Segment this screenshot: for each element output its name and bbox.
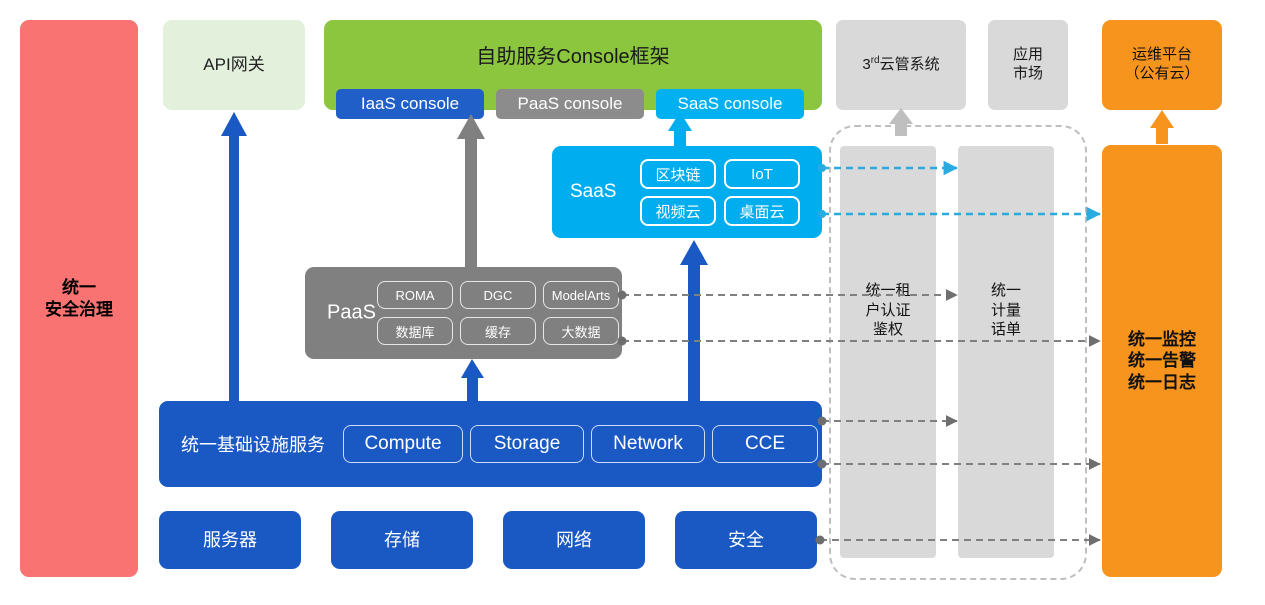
infra-item-network[interactable]: Network (591, 425, 705, 463)
app-market-box: 应用 市场 (988, 20, 1068, 110)
unified-infrastructure-panel: 统一基础设施服务 Compute Storage Network CCE (159, 401, 822, 487)
ops-monitoring-label: 统一监控 统一告警 统一日志 (1128, 329, 1196, 393)
console-framework-title: 自助服务Console框架 (324, 40, 822, 69)
saas-panel-label: SaaS (570, 181, 616, 203)
infra-item-cce-label: CCE (745, 433, 785, 455)
saas-console-label: SaaS console (678, 94, 783, 114)
security-governance-label: 统一 安全治理 (45, 277, 113, 320)
resource-box-network-label: 网络 (556, 529, 592, 552)
ops-platform-box: 运维平台 （公有云） (1102, 20, 1222, 110)
third-party-cloud-mgmt-label: 3rd云管系统 (862, 55, 939, 75)
third-party-rest: 云管系统 (880, 56, 940, 73)
arrow-infra-to-saas (680, 240, 708, 401)
paas-item-database[interactable]: 数据库 (377, 317, 453, 345)
paas-item-roma-label: ROMA (396, 288, 435, 303)
console-framework-panel: 自助服务Console框架 IaaS console PaaS console … (324, 20, 822, 110)
infra-item-network-label: Network (613, 433, 683, 455)
metering-billing-column (958, 146, 1054, 558)
saas-item-desktop-cloud[interactable]: 桌面云 (724, 196, 800, 226)
paas-item-cache-label: 缓存 (485, 322, 511, 341)
ops-monitoring-panel: 统一监控 统一告警 统一日志 (1102, 145, 1222, 577)
saas-console-chip[interactable]: SaaS console (656, 89, 804, 119)
resource-box-server[interactable]: 服务器 (159, 511, 301, 569)
paas-item-bigdata[interactable]: 大数据 (543, 317, 619, 345)
third-party-prefix: 3 (862, 56, 870, 73)
security-governance-panel: 统一 安全治理 (20, 20, 138, 577)
arrow-paas-to-console (457, 114, 485, 267)
paas-item-bigdata-label: 大数据 (561, 322, 600, 341)
paas-item-modelarts-label: ModelArts (552, 288, 611, 303)
iaas-console-chip[interactable]: IaaS console (336, 89, 484, 119)
api-gateway-box: API网关 (163, 20, 305, 110)
paas-item-modelarts[interactable]: ModelArts (543, 281, 619, 309)
saas-item-blockchain[interactable]: 区块链 (640, 159, 716, 189)
api-gateway-label: API网关 (203, 54, 264, 75)
third-party-superscript: rd (871, 55, 880, 66)
resource-box-security[interactable]: 安全 (675, 511, 817, 569)
infra-item-compute-label: Compute (364, 433, 441, 455)
infra-item-cce[interactable]: CCE (712, 425, 818, 463)
tenant-auth-column (840, 146, 936, 558)
resource-box-storage[interactable]: 存储 (331, 511, 473, 569)
saas-item-video-cloud[interactable]: 视频云 (640, 196, 716, 226)
third-party-cloud-mgmt-box: 3rd云管系统 (836, 20, 966, 110)
saas-item-iot-label: IoT (751, 166, 773, 183)
paas-item-dgc-label: DGC (484, 288, 513, 303)
paas-item-dgc[interactable]: DGC (460, 281, 536, 309)
resource-box-security-label: 安全 (728, 529, 764, 552)
saas-item-video-cloud-label: 视频云 (655, 201, 700, 222)
arrow-up-to-ops-platform (1150, 110, 1174, 144)
iaas-console-label: IaaS console (361, 94, 459, 114)
architecture-diagram: 统一 安全治理 API网关 自助服务Console框架 IaaS console… (0, 0, 1265, 605)
saas-item-desktop-cloud-label: 桌面云 (739, 201, 784, 222)
unified-infrastructure-label: 统一基础设施服务 (181, 431, 325, 457)
saas-panel: SaaS 区块链 IoT 视频云 桌面云 (552, 146, 822, 238)
arrow-infra-to-api-gateway (221, 112, 247, 401)
app-market-label: 应用 市场 (1013, 46, 1043, 84)
paas-item-database-label: 数据库 (395, 322, 434, 341)
paas-console-chip[interactable]: PaaS console (496, 89, 644, 119)
paas-item-roma[interactable]: ROMA (377, 281, 453, 309)
paas-panel-label: PaaS (327, 302, 376, 325)
ops-platform-label: 运维平台 （公有云） (1124, 46, 1199, 84)
resource-box-network[interactable]: 网络 (503, 511, 645, 569)
infra-item-compute[interactable]: Compute (343, 425, 463, 463)
saas-item-iot[interactable]: IoT (724, 159, 800, 189)
paas-panel: PaaS ROMA DGC ModelArts 数据库 缓存 大数据 (305, 267, 622, 359)
paas-item-cache[interactable]: 缓存 (460, 317, 536, 345)
tenant-auth-label: 统一租 户认证 鉴权 (840, 281, 936, 340)
paas-console-label: PaaS console (518, 94, 623, 114)
metering-billing-label: 统一 计量 话单 (958, 281, 1054, 340)
arrow-infra-to-paas (461, 359, 484, 401)
saas-item-blockchain-label: 区块链 (655, 164, 700, 185)
resource-box-server-label: 服务器 (203, 529, 257, 552)
infra-item-storage-label: Storage (494, 433, 561, 455)
infra-item-storage[interactable]: Storage (470, 425, 584, 463)
resource-box-storage-label: 存储 (384, 529, 420, 552)
